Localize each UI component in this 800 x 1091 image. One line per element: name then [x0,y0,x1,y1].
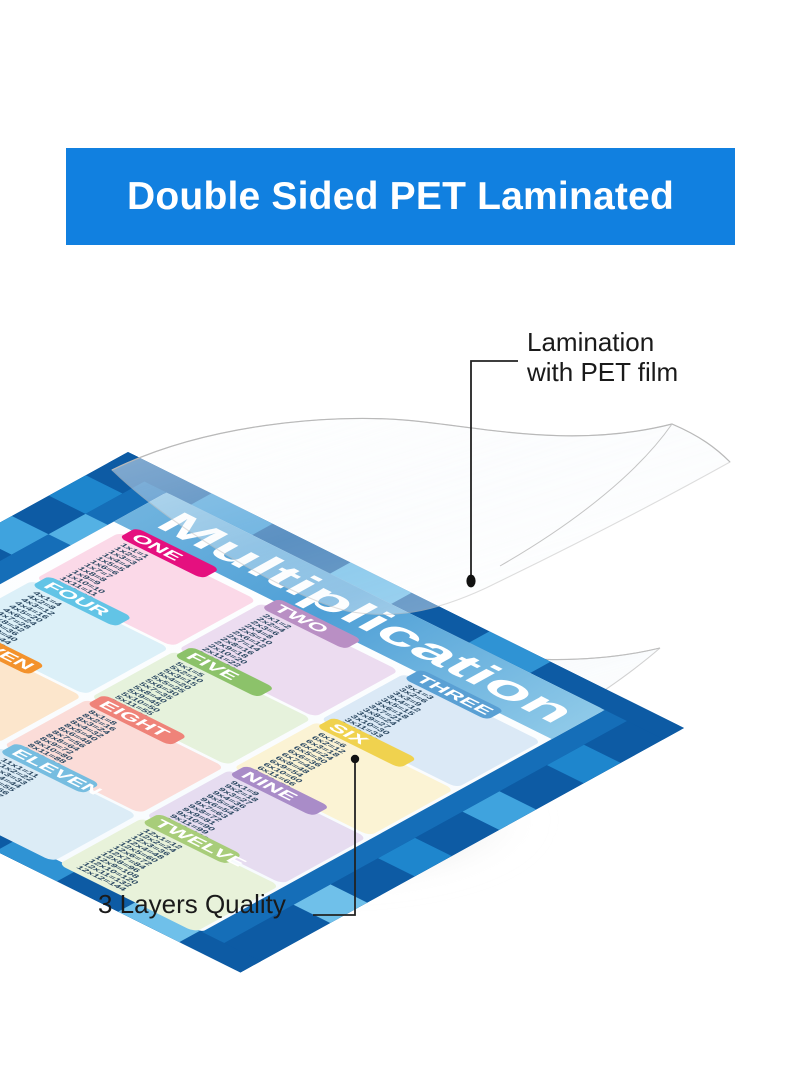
leader-dot-layers [351,755,359,763]
infographic-canvas: Double Sided PET Laminated [0,0,800,1091]
exploded-layer-illustration: Multiplication ONE1x1=11x2=21x3=31x4=41x… [0,0,800,1091]
callout-layers-label: 3 Layers Quality [98,889,286,919]
leader-dot-lamination [466,575,475,588]
callout-lamination-label: Lamination with PET film [527,327,678,387]
